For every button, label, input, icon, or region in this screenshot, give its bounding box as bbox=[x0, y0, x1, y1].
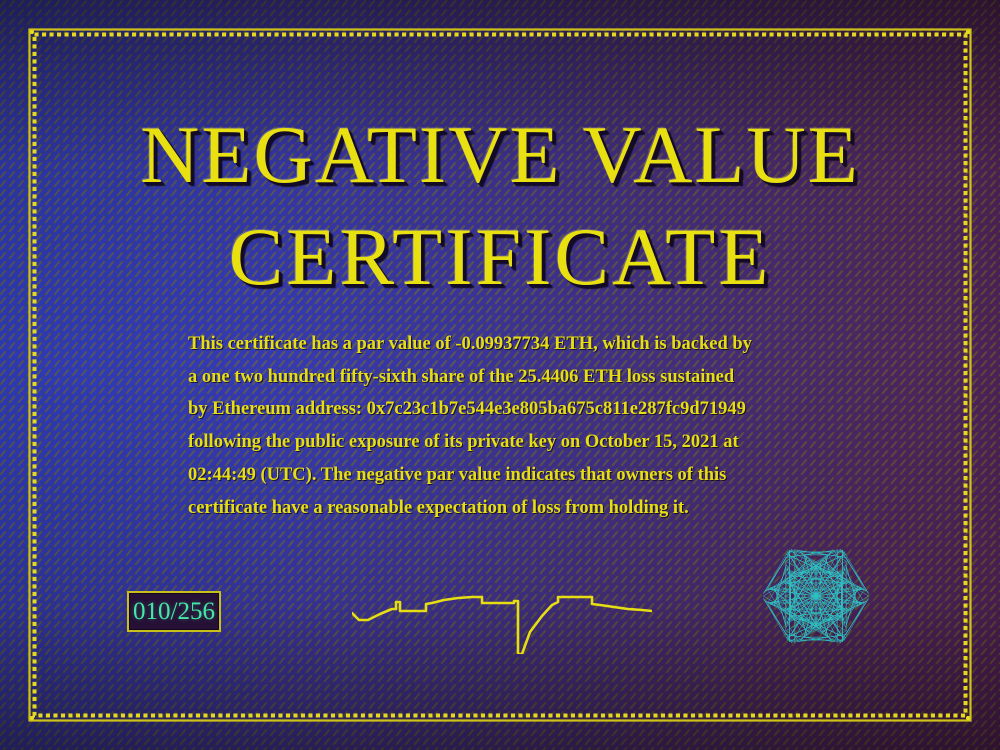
title-line-secondary: CERTIFICATE bbox=[0, 206, 1000, 308]
body-line: certificate have a reasonable expectatio… bbox=[188, 492, 828, 525]
body-line: This certificate has a par value of -0.0… bbox=[188, 328, 828, 361]
title-line-primary: NEGATIVE VALUE bbox=[0, 104, 1000, 206]
page-title: NEGATIVE VALUE CERTIFICATE bbox=[0, 104, 1000, 308]
body-line: 02:44:49 (UTC). The negative par value i… bbox=[188, 459, 828, 492]
certificate-body: This certificate has a par value of -0.0… bbox=[188, 328, 828, 524]
serial-number-label: 010/256 bbox=[133, 599, 215, 624]
status-badge: 010/256 bbox=[127, 591, 221, 632]
certificate-canvas: NEGATIVE VALUE CERTIFICATE This certific… bbox=[0, 0, 1000, 750]
body-line: following the public exposure of its pri… bbox=[188, 426, 828, 459]
price-chart-signature-line bbox=[352, 592, 652, 654]
body-line: a one two hundred fifty-sixth share of t… bbox=[188, 361, 828, 394]
body-line: by Ethereum address: 0x7c23c1b7e544e3e80… bbox=[188, 393, 828, 426]
guilloche-rosette-seal bbox=[757, 537, 875, 655]
